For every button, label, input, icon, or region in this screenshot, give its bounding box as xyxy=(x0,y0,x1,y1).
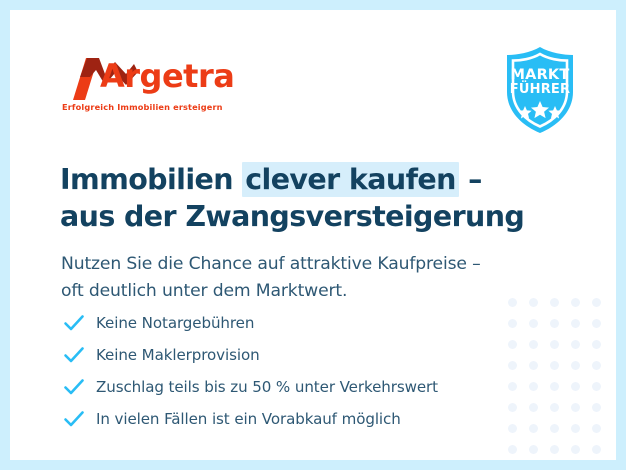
headline-highlight: clever kaufen xyxy=(242,162,459,197)
dot xyxy=(550,424,559,433)
benefits-list: Keine NotargebührenKeine Maklerprovision… xyxy=(63,308,503,436)
dot xyxy=(529,382,538,391)
dot xyxy=(592,403,601,412)
headline-line-2: aus der Zwangsversteigerung xyxy=(60,199,580,235)
dot-row xyxy=(500,403,616,412)
headline-text-after: – xyxy=(459,163,482,196)
dot xyxy=(592,361,601,370)
dot-pattern-decoration xyxy=(500,298,616,460)
dot xyxy=(529,445,538,454)
dot xyxy=(571,445,580,454)
dot xyxy=(508,340,517,349)
dot xyxy=(529,361,538,370)
dot xyxy=(571,340,580,349)
dot xyxy=(529,340,538,349)
dot-row xyxy=(500,445,616,454)
market-leader-badge: MARKT FÜHRER xyxy=(494,44,586,136)
subtitle-line-2: oft deutlich unter dem Marktwert. xyxy=(61,278,581,305)
dot xyxy=(550,319,559,328)
headline-line-1: Immobilien clever kaufen – xyxy=(60,162,580,198)
dot xyxy=(508,403,517,412)
dot xyxy=(529,319,538,328)
banner-card: Argetra Erfolgreich Immobilien ersteiger… xyxy=(10,10,616,460)
dot xyxy=(508,445,517,454)
check-icon xyxy=(63,409,85,429)
subtitle-line-1: Nutzen Sie die Chance auf attraktive Kau… xyxy=(61,251,581,278)
dot xyxy=(550,382,559,391)
headline: Immobilien clever kaufen – aus der Zwang… xyxy=(60,162,580,235)
dot-row xyxy=(500,361,616,370)
benefit-label: In vielen Fällen ist ein Vorabkauf mögli… xyxy=(96,410,401,428)
dot xyxy=(529,403,538,412)
dot xyxy=(592,424,601,433)
dot-row xyxy=(500,424,616,433)
dot xyxy=(508,382,517,391)
dot xyxy=(508,424,517,433)
benefit-label: Keine Maklerprovision xyxy=(96,346,260,364)
dot xyxy=(550,445,559,454)
dot xyxy=(571,403,580,412)
dot xyxy=(508,319,517,328)
dot-row xyxy=(500,340,616,349)
dot xyxy=(592,319,601,328)
dot xyxy=(550,361,559,370)
dot-row xyxy=(500,382,616,391)
benefit-item: In vielen Fällen ist ein Vorabkauf mögli… xyxy=(63,404,503,434)
argetra-logo: Argetra Erfolgreich Immobilien ersteiger… xyxy=(60,54,220,116)
dot xyxy=(529,424,538,433)
benefit-item: Keine Maklerprovision xyxy=(63,340,503,370)
dot xyxy=(571,382,580,391)
benefit-item: Keine Notargebühren xyxy=(63,308,503,338)
subtitle: Nutzen Sie die Chance auf attraktive Kau… xyxy=(61,251,581,305)
dot xyxy=(508,361,517,370)
dot xyxy=(571,361,580,370)
dot xyxy=(550,403,559,412)
benefit-label: Zuschlag teils bis zu 50 % unter Verkehr… xyxy=(96,378,438,396)
argetra-wordmark: Argetra xyxy=(100,60,234,92)
dot-row xyxy=(500,319,616,328)
check-icon xyxy=(63,345,85,365)
dot xyxy=(592,445,601,454)
shield-icon xyxy=(494,44,586,136)
argetra-tagline: Erfolgreich Immobilien ersteigern xyxy=(62,102,223,112)
dot xyxy=(571,424,580,433)
headline-text-before: Immobilien xyxy=(60,163,242,196)
check-icon xyxy=(63,313,85,333)
benefit-label: Keine Notargebühren xyxy=(96,314,254,332)
benefit-item: Zuschlag teils bis zu 50 % unter Verkehr… xyxy=(63,372,503,402)
promo-banner: Argetra Erfolgreich Immobilien ersteiger… xyxy=(0,0,626,470)
check-icon xyxy=(63,377,85,397)
dot xyxy=(592,382,601,391)
dot xyxy=(571,319,580,328)
dot xyxy=(592,340,601,349)
dot xyxy=(550,340,559,349)
dot xyxy=(592,298,601,307)
